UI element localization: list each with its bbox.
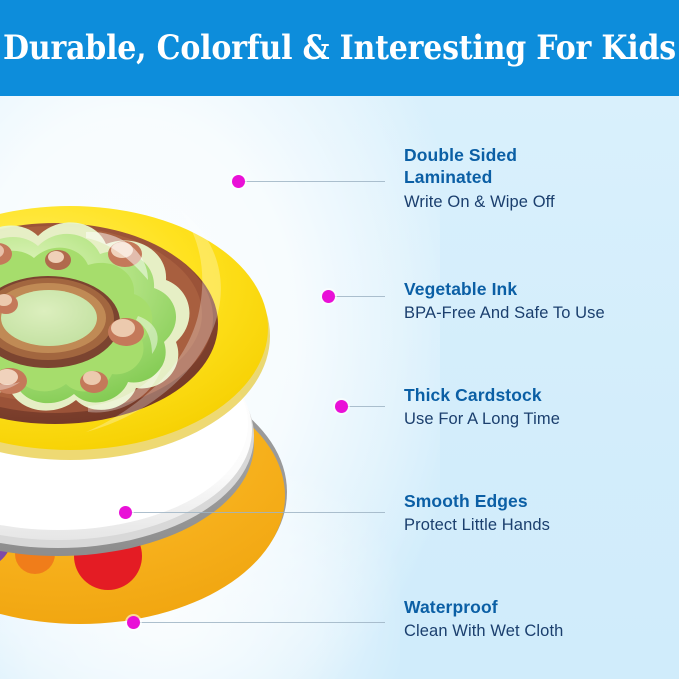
feature-subtitle: Protect Little Hands [404,515,550,536]
page-title: Durable, Colorful & Interesting For Kids [0,0,679,102]
feature-subtitle: Write On & Wipe Off [404,192,555,213]
connector-line-thick-cardstock [348,406,385,407]
connector-dot-double-sided-laminated [232,175,245,188]
product-illustration [0,196,360,666]
connector-dot-smooth-edges [119,506,132,519]
feature-thick-cardstock: Thick Cardstock Use For A Long Time [404,384,560,431]
feature-subtitle: Clean With Wet Cloth [404,621,563,642]
header-banner: Durable, Colorful & Interesting For Kids [0,0,679,96]
feature-title: Smooth Edges [404,490,550,512]
feature-title: Thick Cardstock [404,384,560,406]
feature-subtitle: BPA-Free And Safe To Use [404,303,605,324]
connector-line-double-sided-laminated [245,181,385,182]
connector-dot-waterproof [127,616,140,629]
feature-title: Double Sided Laminated [404,144,555,189]
feature-title: Waterproof [404,596,563,618]
connector-dot-vegetable-ink [322,290,335,303]
feature-double-sided-laminated: Double Sided Laminated Write On & Wipe O… [404,144,555,213]
connector-line-vegetable-ink [335,296,385,297]
connector-dot-thick-cardstock [335,400,348,413]
feature-waterproof: Waterproof Clean With Wet Cloth [404,596,563,643]
feature-title: Vegetable Ink [404,278,605,300]
connector-line-waterproof [140,622,385,623]
feature-subtitle: Use For A Long Time [404,409,560,430]
feature-smooth-edges: Smooth Edges Protect Little Hands [404,490,550,537]
feature-vegetable-ink: Vegetable Ink BPA-Free And Safe To Use [404,278,605,325]
product-infographic: Double Sided Laminated Write On & Wipe O… [0,0,679,679]
connector-line-smooth-edges [132,512,385,513]
